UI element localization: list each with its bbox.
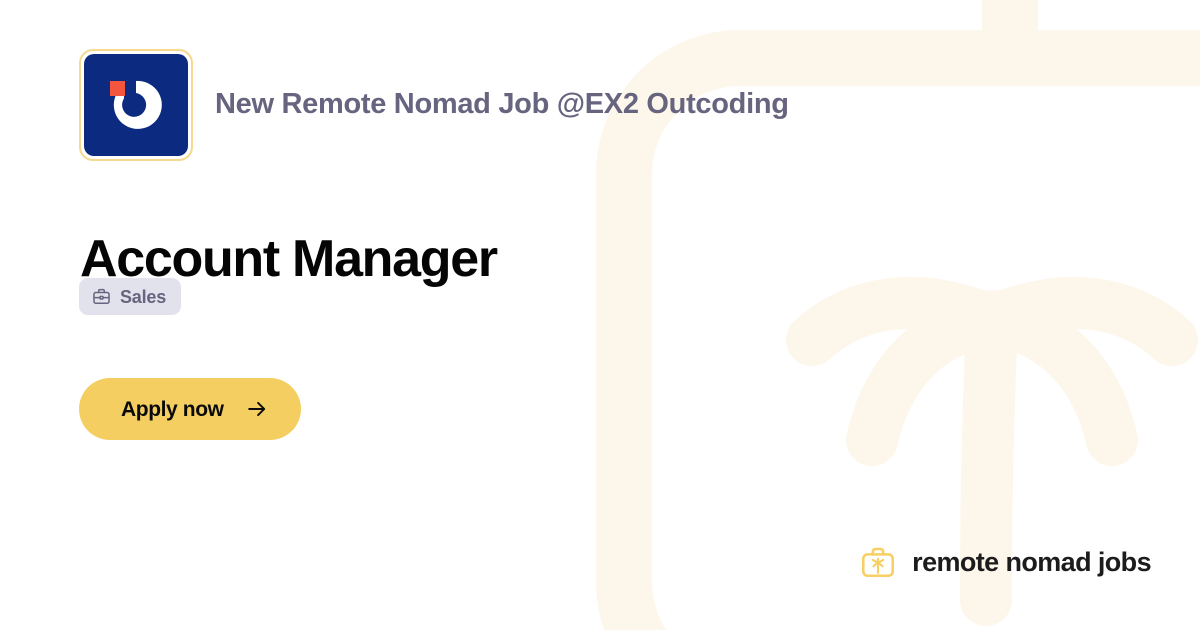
ex2-outcoding-logo-icon <box>84 54 188 156</box>
arrow-right-icon <box>246 398 268 420</box>
job-card-content: New Remote Nomad Job @EX2 Outcoding Acco… <box>0 0 1200 630</box>
briefcase-icon <box>92 287 111 306</box>
badge-row: Sales <box>79 278 181 315</box>
page-headline: New Remote Nomad Job @EX2 Outcoding <box>215 89 789 121</box>
job-card-canvas: New Remote Nomad Job @EX2 Outcoding Acco… <box>0 0 1200 630</box>
brand-footer[interactable]: remote nomad jobs <box>859 543 1151 581</box>
apply-now-button[interactable]: Apply now <box>79 378 301 440</box>
company-logo <box>79 49 193 161</box>
category-badge-label: Sales <box>120 288 166 306</box>
brand-name-label: remote nomad jobs <box>912 549 1151 576</box>
apply-now-label: Apply now <box>121 399 224 420</box>
category-badge[interactable]: Sales <box>79 278 181 315</box>
briefcase-palm-tree-icon <box>859 543 897 581</box>
card-header: New Remote Nomad Job @EX2 Outcoding <box>79 49 789 161</box>
